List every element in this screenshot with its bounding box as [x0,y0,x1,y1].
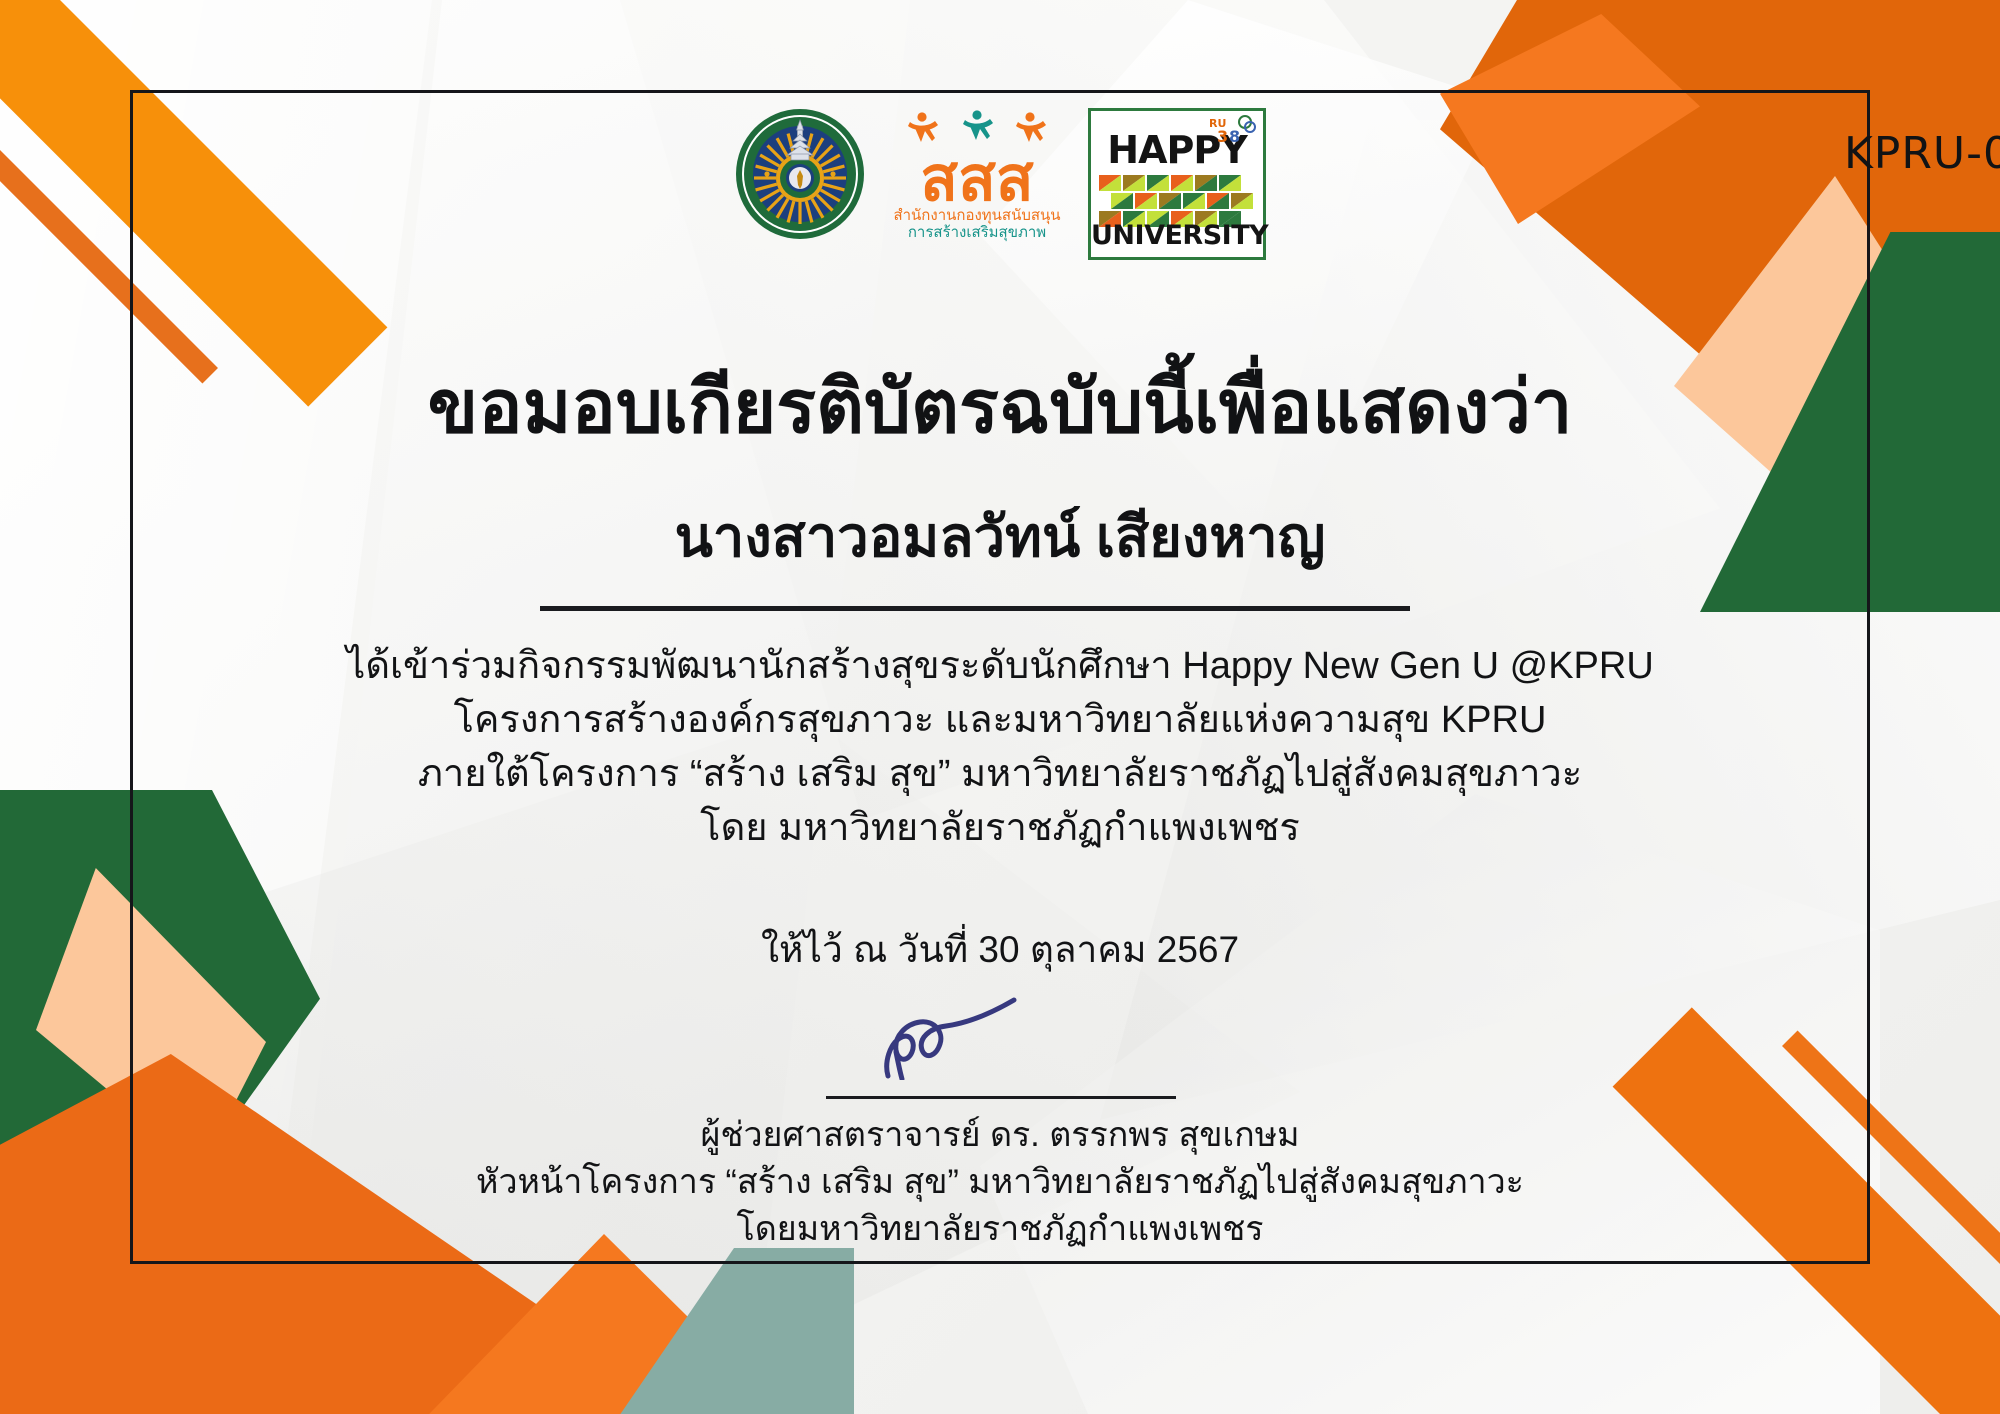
thaihealth-logo: สสส สำนักงานกองทุนสนับสนุน การสร้างเสริม… [888,108,1066,256]
body-line: โดย มหาวิทยาลัยราชภัฏกำแพงเพชร [0,802,2000,856]
svg-text:3: 3 [1217,127,1228,145]
svg-text:8: 8 [1229,127,1240,145]
logo-row: สสส สำนักงานกองทุนสนับสนุน การสร้างเสริม… [0,108,2000,260]
signature-line [826,1096,1176,1099]
title-divider [540,606,1410,611]
thaihealth-subtitle-line2: การสร้างเสริมสุขภาพ [908,224,1046,241]
signer-name: ผู้ช่วยศาสตราจารย์ ดร. ตรรกพร สุขเกษม [0,1112,2000,1159]
ru38-badge-icon: RU 3 8 [1209,115,1257,145]
happy-university-logo: RU 3 8 HAPPY [1088,108,1266,260]
thaihealth-wordmark: สสส [920,150,1034,207]
signer-role-line1: หัวหน้าโครงการ “สร้าง เสริม สุข” มหาวิทย… [0,1159,2000,1206]
thaihealth-subtitle-line1: สำนักงานกองทุนสนับสนุน [893,207,1060,224]
university-label: UNIVERSITY [1091,222,1263,249]
certificate-body: ได้เข้าร่วมกิจกรรมพัฒนานักสร้างสุขระดับน… [0,640,2000,856]
kpru-seal-icon [734,108,866,240]
body-line: โครงการสร้างองค์กรสุขภาวะ และมหาวิทยาลัย… [0,694,2000,748]
recipient-name: นางสาวอมลวัทน์ เสียงหาญ [0,492,2000,581]
body-line: ได้เข้าร่วมกิจกรรมพัฒนานักสร้างสุขระดับน… [0,640,2000,694]
body-line: ภายใต้โครงการ “สร้าง เสริม สุข” มหาวิทยา… [0,748,2000,802]
signer-block: ผู้ช่วยศาสตราจารย์ ดร. ตรรกพร สุขเกษม หั… [0,1112,2000,1253]
certificate-canvas: KPRU-0 [0,0,2000,1414]
certificate-content: KPRU-0 [0,0,2000,1414]
issue-date: ให้ไว้ ณ วันที่ 30 ตุลาคม 2567 [0,920,2000,979]
page-title: ขอมอบเกียรติบัตรฉบับนี้เพื่อแสดงว่า [0,366,2000,447]
signer-role-line2: โดยมหาวิทยาลัยราชภัฏกำแพงเพชร [0,1206,2000,1253]
signature-image [0,980,2000,1080]
